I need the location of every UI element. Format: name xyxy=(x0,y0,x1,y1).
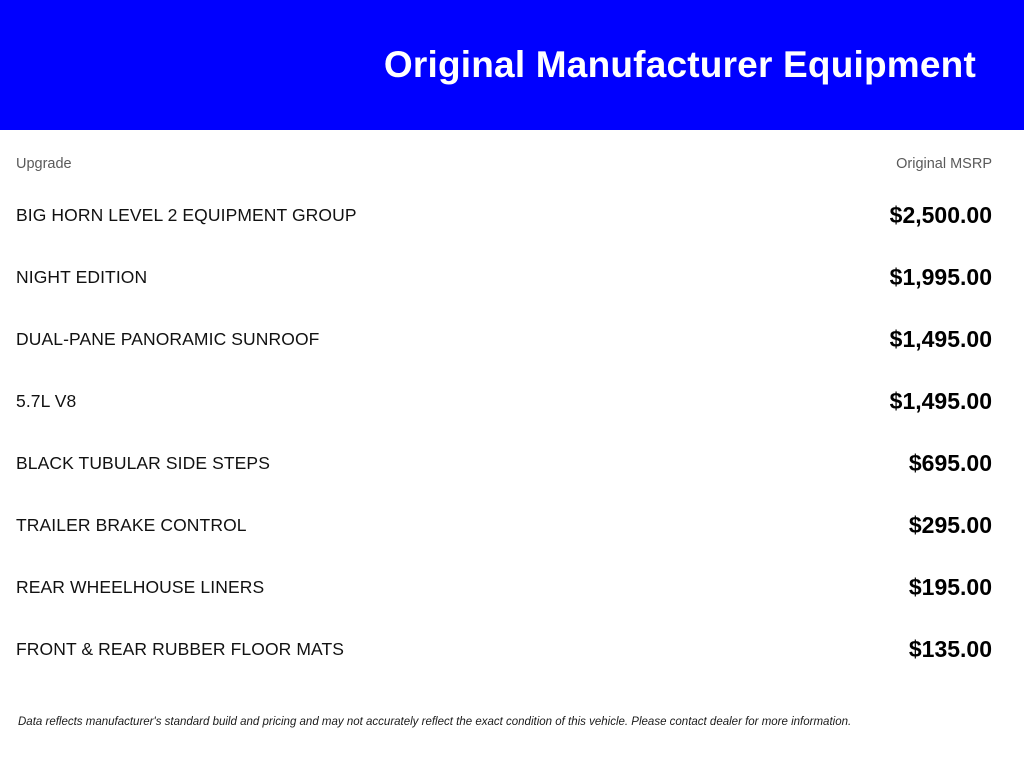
equipment-price: $1,495.00 xyxy=(767,308,992,370)
equipment-price: $135.00 xyxy=(767,618,992,680)
table-header: Upgrade Original MSRP xyxy=(16,130,992,184)
equipment-price: $295.00 xyxy=(767,494,992,556)
equipment-name: FRONT & REAR RUBBER FLOOR MATS xyxy=(16,618,767,680)
table-row: TRAILER BRAKE CONTROL$295.00 xyxy=(16,494,992,556)
table-row: FRONT & REAR RUBBER FLOOR MATS$135.00 xyxy=(16,618,992,680)
column-header-upgrade: Upgrade xyxy=(16,130,767,184)
table-row: REAR WHEELHOUSE LINERS$195.00 xyxy=(16,556,992,618)
page-banner: Original Manufacturer Equipment xyxy=(0,0,1024,130)
equipment-name: DUAL-PANE PANORAMIC SUNROOF xyxy=(16,308,767,370)
equipment-price: $695.00 xyxy=(767,432,992,494)
equipment-price: $1,995.00 xyxy=(767,246,992,308)
table-row: BLACK TUBULAR SIDE STEPS$695.00 xyxy=(16,432,992,494)
table-row: BIG HORN LEVEL 2 EQUIPMENT GROUP$2,500.0… xyxy=(16,184,992,246)
equipment-name: NIGHT EDITION xyxy=(16,246,767,308)
equipment-table: Upgrade Original MSRP BIG HORN LEVEL 2 E… xyxy=(16,130,992,680)
equipment-name: BLACK TUBULAR SIDE STEPS xyxy=(16,432,767,494)
equipment-name: REAR WHEELHOUSE LINERS xyxy=(16,556,767,618)
bottom-spacer xyxy=(0,730,1024,768)
table-row: NIGHT EDITION$1,995.00 xyxy=(16,246,992,308)
footer: Data reflects manufacturer's standard bu… xyxy=(0,708,1024,730)
equipment-name: TRAILER BRAKE CONTROL xyxy=(16,494,767,556)
table-row: 5.7L V8$1,495.00 xyxy=(16,370,992,432)
table-body: BIG HORN LEVEL 2 EQUIPMENT GROUP$2,500.0… xyxy=(16,184,992,680)
disclaimer-text: Data reflects manufacturer's standard bu… xyxy=(18,714,992,730)
table-header-row: Upgrade Original MSRP xyxy=(16,130,992,184)
column-header-original-msrp: Original MSRP xyxy=(767,130,992,184)
equipment-table-container: Upgrade Original MSRP BIG HORN LEVEL 2 E… xyxy=(0,130,1024,708)
page-title: Original Manufacturer Equipment xyxy=(384,45,976,86)
equipment-page: Original Manufacturer Equipment Upgrade … xyxy=(0,0,1024,768)
equipment-name: 5.7L V8 xyxy=(16,370,767,432)
equipment-price: $1,495.00 xyxy=(767,370,992,432)
equipment-price: $2,500.00 xyxy=(767,184,992,246)
equipment-price: $195.00 xyxy=(767,556,992,618)
equipment-name: BIG HORN LEVEL 2 EQUIPMENT GROUP xyxy=(16,184,767,246)
table-row: DUAL-PANE PANORAMIC SUNROOF$1,495.00 xyxy=(16,308,992,370)
